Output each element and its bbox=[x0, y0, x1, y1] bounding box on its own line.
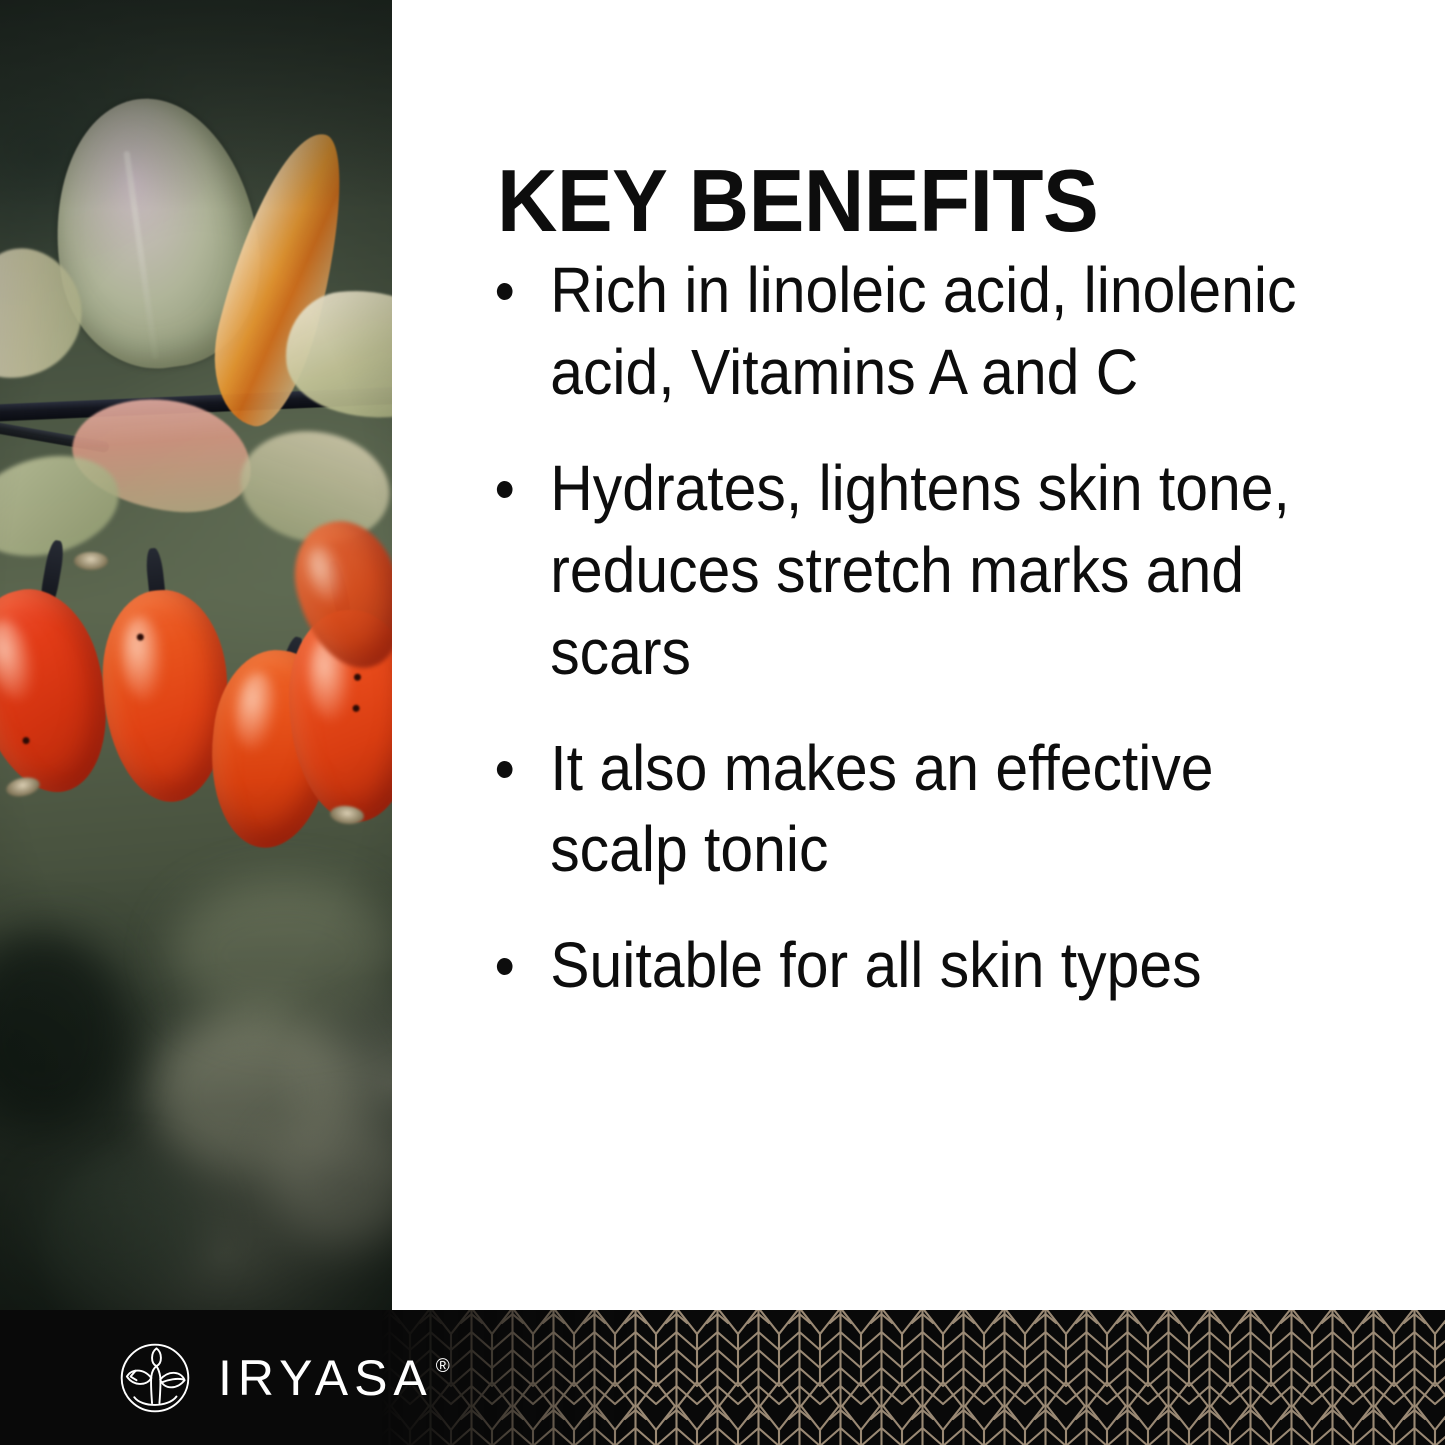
product-benefits-card: KEY BENEFITS Rich in linoleic acid, lino… bbox=[0, 0, 1445, 1445]
list-item-label: It also makes an effective scalp tonic bbox=[550, 732, 1213, 886]
bullet-dot-icon bbox=[497, 481, 513, 498]
berry-highlight bbox=[118, 616, 166, 704]
berry-highlight bbox=[231, 670, 280, 753]
list-item: It also makes an effective scalp tonic bbox=[484, 728, 1312, 892]
list-item-label: Hydrates, lightens skin tone, reduces st… bbox=[550, 452, 1290, 688]
berry-speck bbox=[353, 673, 360, 680]
list-item-label: Suitable for all skin types bbox=[550, 929, 1201, 1001]
bullet-dot-icon bbox=[497, 761, 513, 778]
list-item-label: Rich in linoleic acid, linolenic acid, V… bbox=[550, 254, 1296, 408]
berry-speck bbox=[22, 737, 30, 745]
berry-highlight bbox=[0, 615, 42, 705]
benefits-list: Rich in linoleic acid, linolenic acid, V… bbox=[484, 250, 1384, 1007]
brand-name-text: IRYASA bbox=[218, 1353, 433, 1403]
bullet-dot-icon bbox=[497, 283, 513, 300]
list-item: Suitable for all skin types bbox=[484, 925, 1312, 1007]
iryasa-tree-circle-logo-icon bbox=[118, 1341, 192, 1415]
list-item: Rich in linoleic acid, linolenic acid, V… bbox=[484, 250, 1312, 414]
page-title: KEY BENEFITS bbox=[497, 157, 1098, 245]
benefits-content: KEY BENEFITS Rich in linoleic acid, lino… bbox=[392, 0, 1445, 1310]
bokeh-blob bbox=[30, 1160, 210, 1300]
registered-trademark-icon: ® bbox=[436, 1357, 450, 1376]
list-item: Hydrates, lightens skin tone, reduces st… bbox=[484, 448, 1312, 694]
bullet-dot-icon bbox=[497, 958, 513, 975]
berry-speck bbox=[352, 705, 359, 712]
berry-highlight bbox=[300, 541, 351, 609]
product-photo bbox=[0, 0, 392, 1310]
berry-calyx bbox=[74, 552, 108, 570]
brand-name: IRYASA ® bbox=[218, 1353, 450, 1403]
brand-lockup: IRYASA ® bbox=[118, 1341, 450, 1415]
bokeh-blob bbox=[170, 880, 392, 1030]
brand-footer: IRYASA ® bbox=[0, 1310, 1445, 1445]
